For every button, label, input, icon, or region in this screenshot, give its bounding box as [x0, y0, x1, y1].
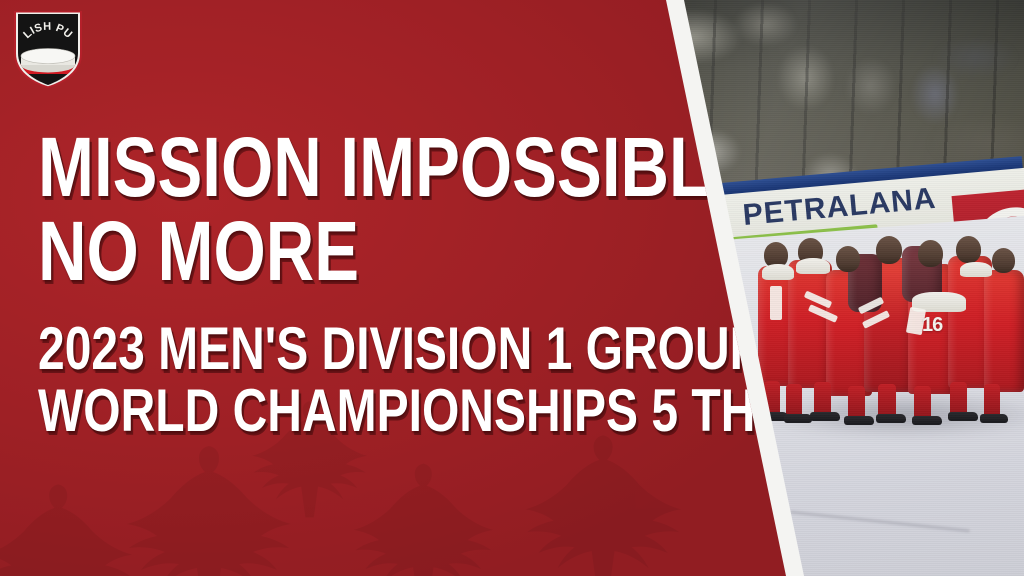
player-celebration-pile: 16 [752, 236, 1024, 416]
headline-block: MISSION IMPOSSIBLE NO MORE 2023 MEN'S DI… [38, 126, 738, 441]
polish-puck-shield-logo[interactable]: POLISH PUCK [12, 9, 84, 88]
subtitle-line-2: WORLD CHAMPIONSHIPS 5 THOUGHTS [38, 381, 598, 441]
headline-line-1: MISSION IMPOSSIBLE [38, 126, 598, 208]
thumbnail-canvas: PETRALANA from nature [0, 0, 1024, 576]
jersey-number: 16 [922, 314, 942, 337]
eagle-watermark-icon [0, 470, 160, 576]
subtitle-line-1: 2023 MEN'S DIVISION 1 GROUP A [38, 319, 598, 379]
headline-line-2: NO MORE [38, 210, 598, 292]
